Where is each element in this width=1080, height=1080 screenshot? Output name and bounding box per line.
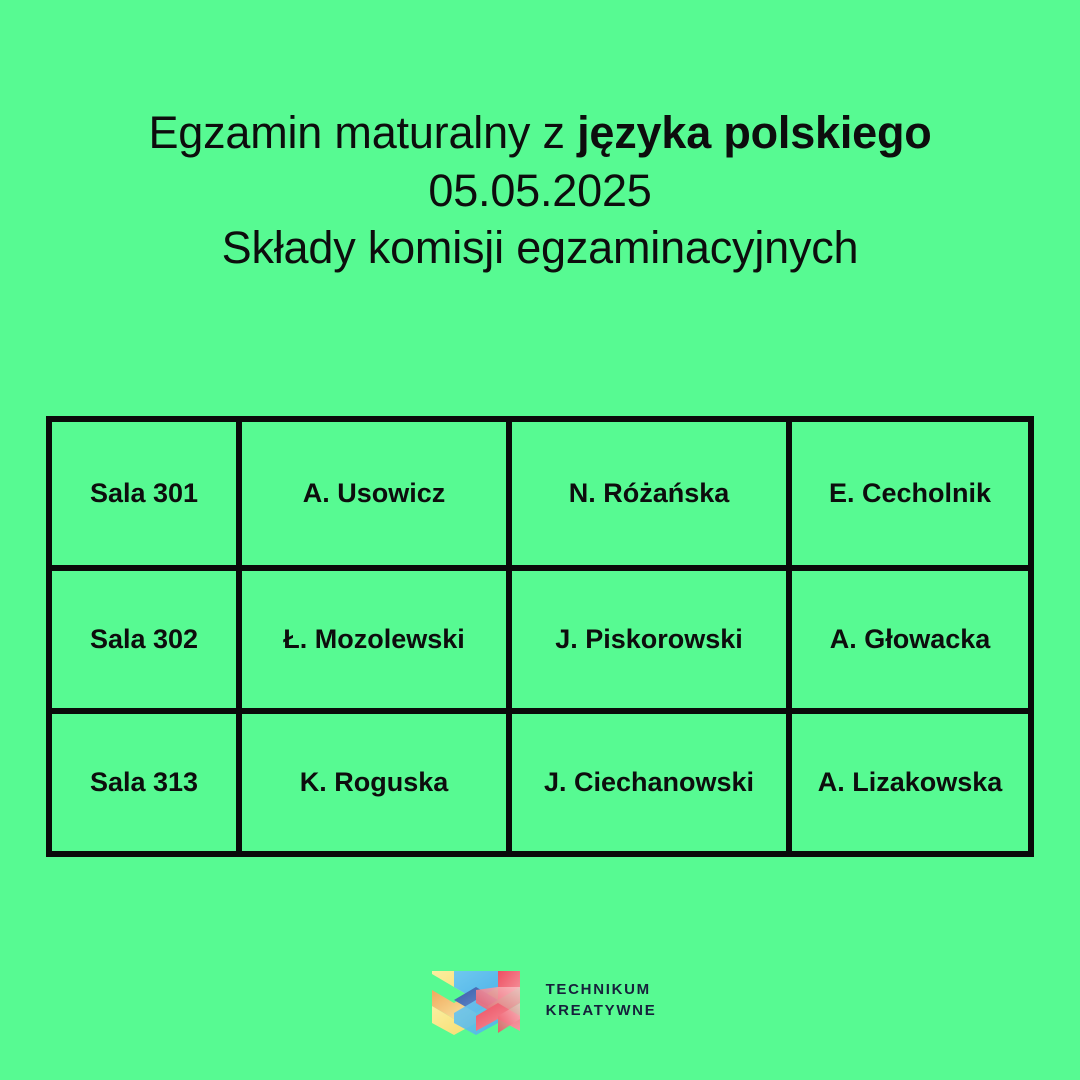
brand-logo: TECHNIKUM KREATYWNE bbox=[0, 963, 1080, 1037]
table-row: Sala 302 Ł. Mozolewski J. Piskorowski A.… bbox=[52, 565, 1028, 708]
commission-table: Sala 301 A. Usowicz N. Różańska E. Cecho… bbox=[46, 416, 1034, 857]
title-prefix: Egzamin maturalny z bbox=[148, 107, 577, 158]
cell-member-2: J. Ciechanowski bbox=[506, 708, 786, 851]
cell-member-3: A. Głowacka bbox=[786, 565, 1028, 708]
brand-line-1: TECHNIKUM bbox=[546, 979, 657, 1000]
cell-member-1: A. Usowicz bbox=[236, 422, 506, 565]
table-row: Sala 313 K. Roguska J. Ciechanowski A. L… bbox=[52, 708, 1028, 851]
cell-room: Sala 302 bbox=[52, 565, 236, 708]
cell-member-2: N. Różańska bbox=[506, 422, 786, 565]
table-row: Sala 301 A. Usowicz N. Różańska E. Cecho… bbox=[52, 422, 1028, 565]
cell-room: Sala 313 bbox=[52, 708, 236, 851]
title-line-exam: Egzamin maturalny z języka polskiego bbox=[0, 104, 1080, 162]
technikum-kreatywne-mark-icon bbox=[424, 963, 528, 1037]
page-title: Egzamin maturalny z języka polskiego 05.… bbox=[0, 104, 1080, 277]
cell-room: Sala 301 bbox=[52, 422, 236, 565]
title-subject: języka polskiego bbox=[577, 107, 931, 158]
brand-wordmark: TECHNIKUM KREATYWNE bbox=[546, 979, 657, 1022]
cell-member-1: K. Roguska bbox=[236, 708, 506, 851]
cell-member-3: E. Cecholnik bbox=[786, 422, 1028, 565]
title-line-date: 05.05.2025 bbox=[0, 162, 1080, 220]
brand-line-2: KREATYWNE bbox=[546, 1000, 657, 1021]
title-line-subtitle: Składy komisji egzaminacyjnych bbox=[0, 219, 1080, 277]
cell-member-1: Ł. Mozolewski bbox=[236, 565, 506, 708]
cell-member-3: A. Lizakowska bbox=[786, 708, 1028, 851]
cell-member-2: J. Piskorowski bbox=[506, 565, 786, 708]
